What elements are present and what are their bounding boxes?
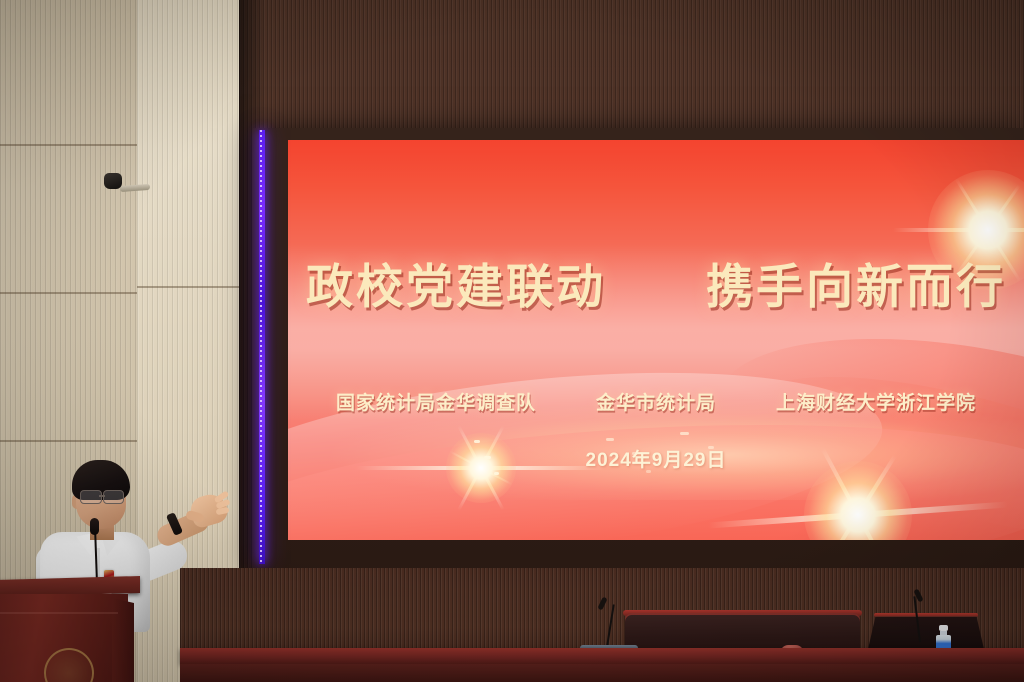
security-camera-icon xyxy=(104,173,124,191)
led-accent-strip xyxy=(259,130,265,564)
wall-seam-middle xyxy=(0,292,137,294)
desk-surface xyxy=(180,648,1024,664)
presentation-slide[interactable]: 政校党建联动 携手向新而行 国家统计局金华调查队 金华市统计局 上海财经大学浙江… xyxy=(288,140,1024,540)
screenshot-root: 政校党建联动 携手向新而行 国家统计局金华调查队 金华市统计局 上海财经大学浙江… xyxy=(0,0,1024,682)
presenter-eyeglass-right xyxy=(103,490,124,504)
slide-date: 2024年9月29日 xyxy=(288,445,1024,472)
flare-ray xyxy=(893,228,1024,232)
sparkle xyxy=(474,440,480,443)
podium-microphone-head xyxy=(90,518,99,535)
slide-title: 政校党建联动 携手向新而行 xyxy=(288,248,1024,317)
podium-side-panel xyxy=(112,598,134,682)
wall-seam-center xyxy=(137,286,239,288)
presenter-eyeglass-left xyxy=(80,490,102,504)
sparkle xyxy=(606,438,614,441)
wall-seam-lower xyxy=(0,440,137,442)
wall-seam-upper xyxy=(0,144,137,146)
sparkle xyxy=(494,472,499,475)
podium-edge-highlight xyxy=(0,612,118,614)
presenter-eyeglass-bridge xyxy=(99,495,105,497)
desk-front-edge xyxy=(180,664,1024,682)
sparkle xyxy=(680,432,689,435)
camera-body xyxy=(104,173,122,189)
slide-organizations: 国家统计局金华调查队 金华市统计局 上海财经大学浙江学院 xyxy=(288,388,1024,415)
